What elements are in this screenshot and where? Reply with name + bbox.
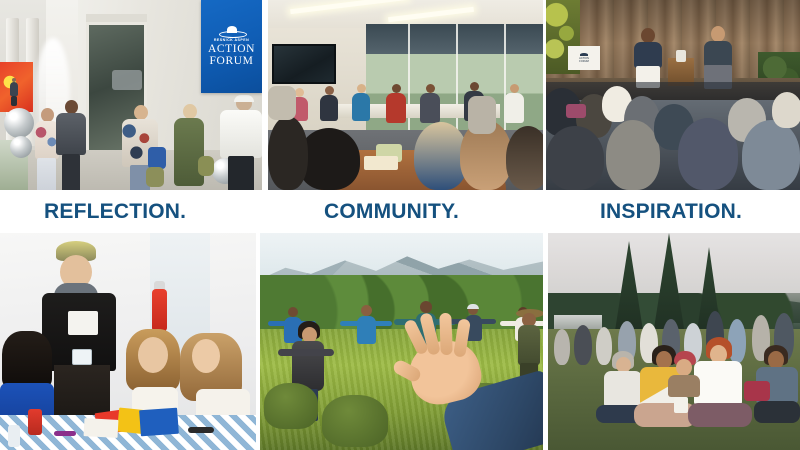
window-mullion <box>456 24 458 136</box>
person-arms-out <box>340 305 392 365</box>
audience-head <box>606 120 660 190</box>
person-olive-dress <box>172 104 206 190</box>
photo-meadow-arms-outstretched[interactable] <box>260 233 543 450</box>
outstretched-arms <box>340 321 392 326</box>
marker-pen <box>54 431 76 436</box>
caption-community: COMMUNITY. <box>324 190 459 233</box>
stage-sign-line-2: FORUM <box>579 60 589 63</box>
conference-scene <box>268 0 543 190</box>
audience-head-back <box>268 116 308 190</box>
lawn-scene <box>548 233 800 450</box>
aspen-dome-logo-icon <box>219 26 245 37</box>
banner-line-forum: FORUM <box>210 55 254 67</box>
paper-cup <box>674 397 688 413</box>
person-participant-right <box>178 333 250 421</box>
photo-conference-room-panel[interactable] <box>268 0 543 190</box>
outstretched-arms <box>278 349 334 356</box>
person-suit <box>56 100 86 190</box>
blue-bag <box>148 147 166 169</box>
action-forum-stage-sign: ACTION FORUM <box>568 46 600 70</box>
audience-head <box>546 126 604 190</box>
mirror-sphere <box>4 108 34 138</box>
water-pitcher <box>676 50 686 62</box>
person-white-shirt <box>220 96 262 190</box>
caption-band: REFLECTION. COMMUNITY. INSPIRATION. <box>0 190 800 233</box>
panelist <box>386 84 406 126</box>
audience-shoulder <box>566 104 586 118</box>
finger <box>439 313 452 355</box>
audience-head <box>772 92 800 128</box>
window-blinds <box>366 24 543 54</box>
banner-line-action: ACTION <box>208 43 255 55</box>
shrub <box>264 383 318 429</box>
arrival-scene: RESNICK ASPEN ACTION FORUM <box>0 0 262 190</box>
caption-reflection: REFLECTION. <box>44 190 186 233</box>
fire-extinguisher-icon <box>152 289 167 331</box>
speaker-right <box>702 26 734 88</box>
held-paper <box>68 311 98 335</box>
white-paper <box>84 418 119 438</box>
reflected-car <box>112 70 142 90</box>
person-participant-center <box>122 329 184 419</box>
aspen-dome-logo-icon <box>580 53 588 56</box>
audience-head-back <box>506 126 543 190</box>
panelist <box>504 84 524 126</box>
panelist <box>352 84 370 122</box>
conference-chair <box>468 96 496 134</box>
workshop-scene <box>0 233 256 450</box>
photo-outdoor-stage-conversation[interactable]: ACTION FORUM <box>546 0 800 190</box>
photo-collage: RESNICK ASPEN ACTION FORUM <box>0 0 800 450</box>
crowd-figure <box>574 325 592 365</box>
caption-inspiration: INSPIRATION. <box>600 190 742 233</box>
speaker-left <box>632 28 664 86</box>
person-participant-left <box>0 331 54 423</box>
panelist <box>320 86 338 122</box>
conference-chair <box>268 86 296 120</box>
person-seated-beanie <box>664 351 704 395</box>
blue-paper <box>139 408 179 437</box>
panelist <box>420 84 440 126</box>
stage-scene: ACTION FORUM <box>546 0 800 190</box>
person-distant <box>10 78 18 106</box>
person-patterned-coat <box>122 105 158 190</box>
gutter-vertical <box>543 0 546 190</box>
action-forum-banner: RESNICK ASPEN ACTION FORUM <box>201 0 262 93</box>
cap-icon <box>234 95 254 102</box>
open-notebook <box>364 156 398 170</box>
cup <box>8 425 20 447</box>
marker-pen <box>188 427 214 433</box>
outstretched-arms <box>450 319 496 324</box>
shoulder-bag <box>198 156 214 176</box>
photo-workshop-art-table[interactable] <box>0 233 256 450</box>
gutter-vertical <box>256 233 260 450</box>
shrub <box>322 395 388 447</box>
meadow-scene <box>260 233 543 450</box>
name-badge <box>72 349 92 365</box>
wall-mounted-screen <box>272 44 336 84</box>
photo-lawn-gathering-dusk[interactable] <box>548 233 800 450</box>
window-mullion <box>408 24 410 136</box>
cap-icon <box>467 304 479 309</box>
audience-head <box>742 120 800 190</box>
red-bag <box>744 381 770 401</box>
olive-bag <box>146 167 164 187</box>
soda-can <box>28 409 42 435</box>
crowd-figure <box>554 329 570 365</box>
gutter-vertical <box>543 233 548 450</box>
hair <box>2 331 52 389</box>
mirror-sphere <box>10 136 32 158</box>
photo-arrival-outside-building[interactable]: RESNICK ASPEN ACTION FORUM <box>0 0 262 190</box>
gutter-vertical <box>262 0 268 190</box>
